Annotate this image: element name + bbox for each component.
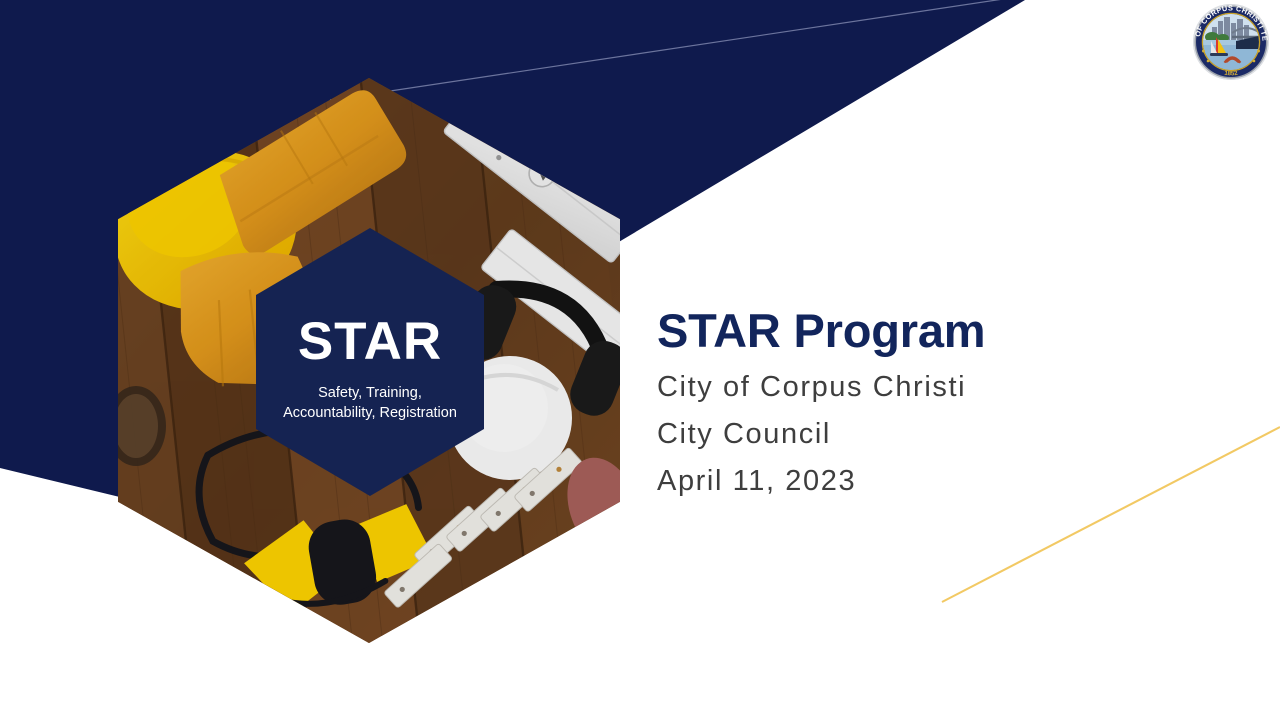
- star-badge-subtitle-line2: Accountability, Registration: [263, 404, 478, 424]
- title-text-block: STAR Program City of Corpus Christi City…: [657, 305, 1217, 505]
- star-program-hexagon-image: STAR Safety, Training, Accountability, R…: [118, 78, 620, 643]
- city-seal-logo: CITY OF CORPUS CHRISTI TEXAS 1852: [1192, 3, 1270, 81]
- star-badge-subtitle: Safety, Training, Accountability, Regist…: [263, 384, 478, 423]
- organization-line: City of Corpus Christi: [657, 364, 1217, 411]
- city-seal-icon: CITY OF CORPUS CHRISTI TEXAS 1852: [1192, 3, 1270, 81]
- star-badge-subtitle-line1: Safety, Training,: [263, 384, 478, 404]
- date-line: April 11, 2023: [657, 458, 1217, 505]
- star-badge-title: STAR: [298, 315, 442, 368]
- body-line: City Council: [657, 411, 1217, 458]
- svg-text:1852: 1852: [1224, 70, 1239, 78]
- title-slide: STAR Safety, Training, Accountability, R…: [0, 0, 1280, 720]
- page-title: STAR Program: [657, 305, 1217, 358]
